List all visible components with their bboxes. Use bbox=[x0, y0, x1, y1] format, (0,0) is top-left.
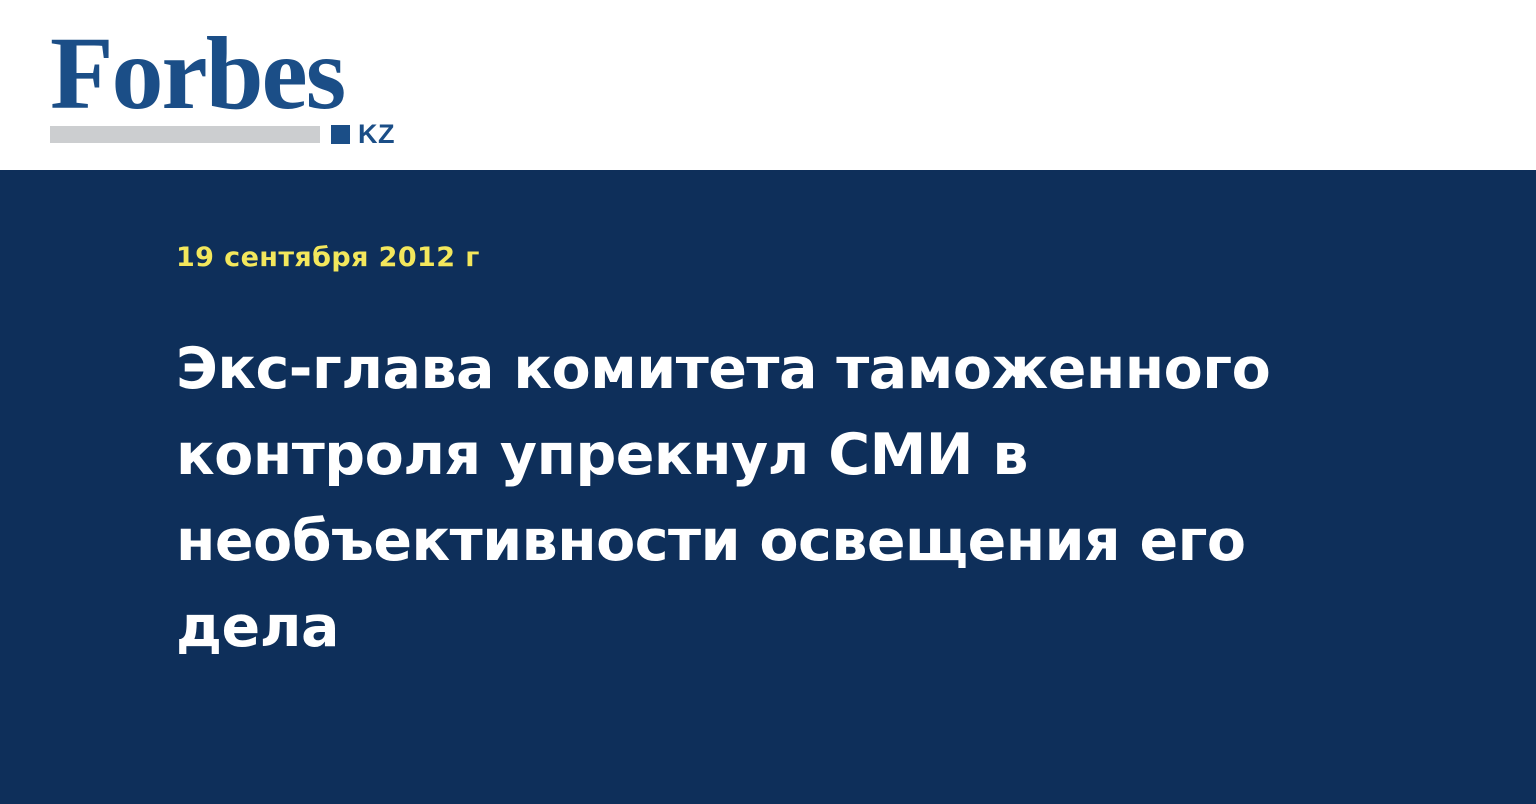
logo-underline-bar bbox=[50, 126, 320, 143]
article-publish-date: 19 сентября 2012 г bbox=[176, 170, 1356, 274]
blue-square-icon bbox=[331, 125, 350, 144]
site-masthead: Forbes KZ bbox=[0, 0, 1536, 170]
forbes-wordmark: Forbes bbox=[50, 22, 344, 126]
logo-kz-suffix: KZ bbox=[358, 121, 395, 148]
article-hero-page: Forbes KZ 19 сентября 2012 г Экс-глава к… bbox=[0, 0, 1536, 804]
forbes-kz-logo[interactable]: Forbes KZ bbox=[50, 22, 410, 148]
article-headline: Экс-глава комитета таможенного контроля … bbox=[176, 274, 1351, 670]
article-hero-banner: 19 сентября 2012 г Экс-глава комитета та… bbox=[0, 170, 1536, 804]
article-hero-content: 19 сентября 2012 г Экс-глава комитета та… bbox=[176, 170, 1356, 670]
